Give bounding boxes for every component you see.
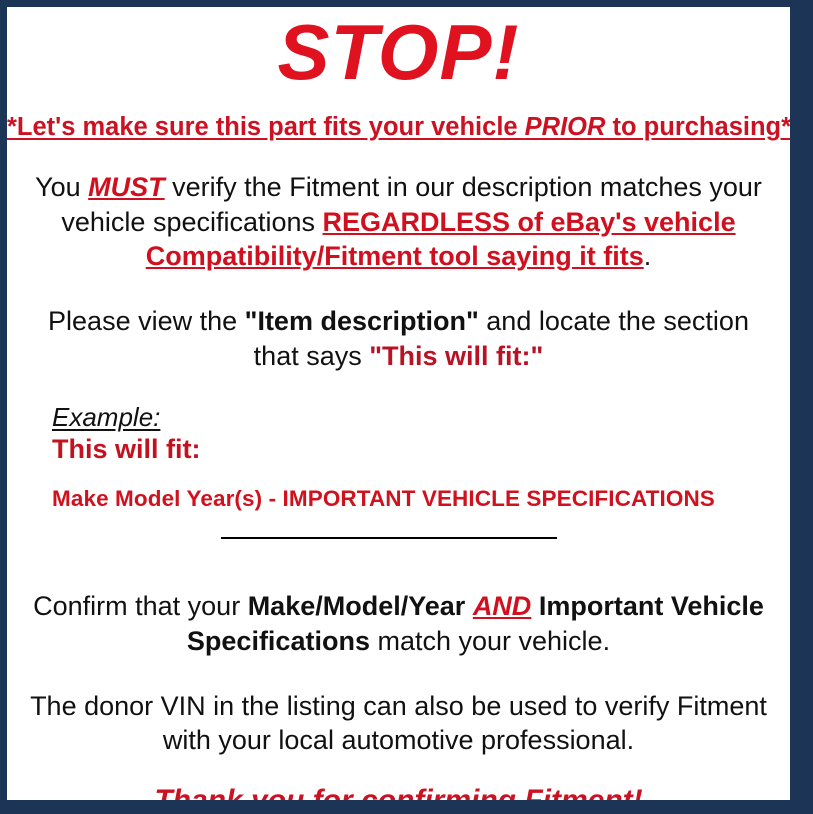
must-seg1: You [35,172,88,202]
must-emphasis: MUST [88,172,165,202]
subtitle-after: to purchasing* [605,113,790,141]
divider-wrapper [7,511,790,559]
confirm-seg1: Confirm that your [33,591,248,621]
this-will-fit-quote: "This will fit:" [369,341,543,371]
subtitle-before: *Let's make sure this part fits your veh… [7,113,525,141]
confirm-space-2 [531,591,539,621]
example-label: Example: [52,403,790,432]
make-model-year-emphasis: Make/Model/Year [248,591,466,621]
example-block: Example: This will fit: Make Model Year(… [7,373,790,511]
stop-title: STOP! [7,7,790,91]
paragraph-view-description: Please view the "Item description" and l… [29,274,769,373]
view-seg1: Please view the [48,306,245,336]
thank-you-line: Thank you for confirming Fitment! [7,758,790,800]
and-emphasis: AND [473,591,532,621]
item-description-emphasis: "Item description" [245,306,479,336]
must-seg3: . [644,241,652,271]
paragraph-confirm: Confirm that your Make/Model/Year AND Im… [29,559,769,658]
subtitle-line: *Let's make sure this part fits your veh… [7,91,790,142]
example-fit-heading: This will fit: [52,432,790,465]
paragraph-must-verify: You MUST verify the Fitment in our descr… [29,142,769,274]
paragraph-donor-vin: The donor VIN in the listing can also be… [29,659,769,758]
confirm-space-1 [465,591,473,621]
example-spec-line: Make Model Year(s) - IMPORTANT VEHICLE S… [52,465,790,512]
confirm-seg2: match your vehicle. [370,626,610,656]
horizontal-divider [221,537,557,539]
notice-panel: STOP! *Let's make sure this part fits yo… [7,7,790,800]
subtitle-prior-emphasis: PRIOR [525,113,606,141]
notice-frame: STOP! *Let's make sure this part fits yo… [0,0,813,814]
